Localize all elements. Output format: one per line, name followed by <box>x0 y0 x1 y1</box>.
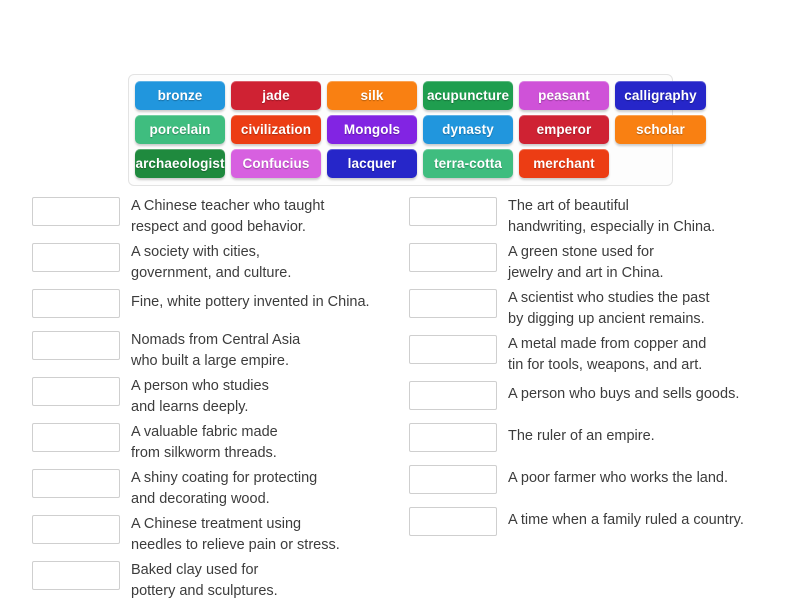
right-answer-dropzone[interactable] <box>409 335 497 364</box>
word-tile[interactable]: emperor <box>519 115 609 144</box>
right-answer-dropzone[interactable] <box>409 197 497 226</box>
definition-row: A Chinese treatment using needles to rel… <box>32 514 392 555</box>
left-answer-dropzone[interactable] <box>32 377 120 406</box>
definition-text: A person who buys and sells goods. <box>508 380 769 405</box>
word-bank-row: porcelaincivilizationMongolsdynastyemper… <box>135 115 666 144</box>
definition-text: A metal made from copper and tin for too… <box>508 334 769 375</box>
left-answer-dropzone[interactable] <box>32 515 120 544</box>
definition-row: A time when a family ruled a country. <box>409 506 769 536</box>
definition-text: A society with cities, government, and c… <box>131 242 392 283</box>
definition-row: Baked clay used for pottery and sculptur… <box>32 560 392 601</box>
definition-text: Nomads from Central Asia who built a lar… <box>131 330 392 371</box>
definition-row: Fine, white pottery invented in China. <box>32 288 392 318</box>
word-tile[interactable]: merchant <box>519 149 609 178</box>
definition-row: A shiny coating for protecting and decor… <box>32 468 392 509</box>
right-answer-dropzone[interactable] <box>409 507 497 536</box>
word-bank-panel: bronzejadesilkacupuncturepeasantcalligra… <box>128 74 673 186</box>
word-tile[interactable]: bronze <box>135 81 225 110</box>
definition-row: A person who studies and learns deeply. <box>32 376 392 417</box>
definition-row: The ruler of an empire. <box>409 422 769 452</box>
left-answer-dropzone[interactable] <box>32 561 120 590</box>
definition-row: A person who buys and sells goods. <box>409 380 769 410</box>
right-answer-dropzone[interactable] <box>409 465 497 494</box>
definition-text: A time when a family ruled a country. <box>508 506 769 531</box>
word-tile[interactable]: Mongols <box>327 115 417 144</box>
definition-text: A shiny coating for protecting and decor… <box>131 468 392 509</box>
definition-text: Baked clay used for pottery and sculptur… <box>131 560 392 601</box>
right-answer-dropzone[interactable] <box>409 243 497 272</box>
definition-row: The art of beautiful handwriting, especi… <box>409 196 769 237</box>
definition-row: A Chinese teacher who taught respect and… <box>32 196 392 237</box>
right-answer-dropzone[interactable] <box>409 381 497 410</box>
definition-column-left: A Chinese teacher who taught respect and… <box>32 196 392 606</box>
word-tile[interactable]: terra-cotta <box>423 149 513 178</box>
definition-row: A green stone used for jewelry and art i… <box>409 242 769 283</box>
definition-column-right: The art of beautiful handwriting, especi… <box>409 196 769 548</box>
word-tile[interactable]: civilization <box>231 115 321 144</box>
right-answer-dropzone[interactable] <box>409 289 497 318</box>
left-answer-dropzone[interactable] <box>32 289 120 318</box>
definition-text: The ruler of an empire. <box>508 422 769 447</box>
definition-row: A metal made from copper and tin for too… <box>409 334 769 375</box>
left-answer-dropzone[interactable] <box>32 331 120 360</box>
word-tile[interactable]: archaeologist <box>135 149 225 178</box>
definition-text: A poor farmer who works the land. <box>508 464 769 489</box>
word-bank-row: archaeologistConfuciuslacquerterra-cotta… <box>135 149 666 178</box>
word-tile[interactable]: silk <box>327 81 417 110</box>
definition-text: A person who studies and learns deeply. <box>131 376 392 417</box>
definition-text: The art of beautiful handwriting, especi… <box>508 196 769 237</box>
word-tile[interactable]: lacquer <box>327 149 417 178</box>
word-tile[interactable]: porcelain <box>135 115 225 144</box>
definition-text: A Chinese treatment using needles to rel… <box>131 514 392 555</box>
definition-row: A poor farmer who works the land. <box>409 464 769 494</box>
definition-text: A valuable fabric made from silkworm thr… <box>131 422 392 463</box>
word-tile[interactable]: dynasty <box>423 115 513 144</box>
left-answer-dropzone[interactable] <box>32 197 120 226</box>
definition-row: Nomads from Central Asia who built a lar… <box>32 330 392 371</box>
definition-text: A green stone used for jewelry and art i… <box>508 242 769 283</box>
left-answer-dropzone[interactable] <box>32 469 120 498</box>
word-tile[interactable]: peasant <box>519 81 609 110</box>
right-answer-dropzone[interactable] <box>409 423 497 452</box>
definition-text: A scientist who studies the past by digg… <box>508 288 769 329</box>
word-tile[interactable]: Confucius <box>231 149 321 178</box>
left-answer-dropzone[interactable] <box>32 243 120 272</box>
definition-text: A Chinese teacher who taught respect and… <box>131 196 392 237</box>
definition-row: A society with cities, government, and c… <box>32 242 392 283</box>
word-tile[interactable]: acupuncture <box>423 81 513 110</box>
word-tile[interactable]: calligraphy <box>615 81 706 110</box>
definition-row: A valuable fabric made from silkworm thr… <box>32 422 392 463</box>
word-bank-row: bronzejadesilkacupuncturepeasantcalligra… <box>135 81 666 110</box>
definition-text: Fine, white pottery invented in China. <box>131 288 392 313</box>
left-answer-dropzone[interactable] <box>32 423 120 452</box>
definition-row: A scientist who studies the past by digg… <box>409 288 769 329</box>
word-tile[interactable]: jade <box>231 81 321 110</box>
word-tile[interactable]: scholar <box>615 115 706 144</box>
